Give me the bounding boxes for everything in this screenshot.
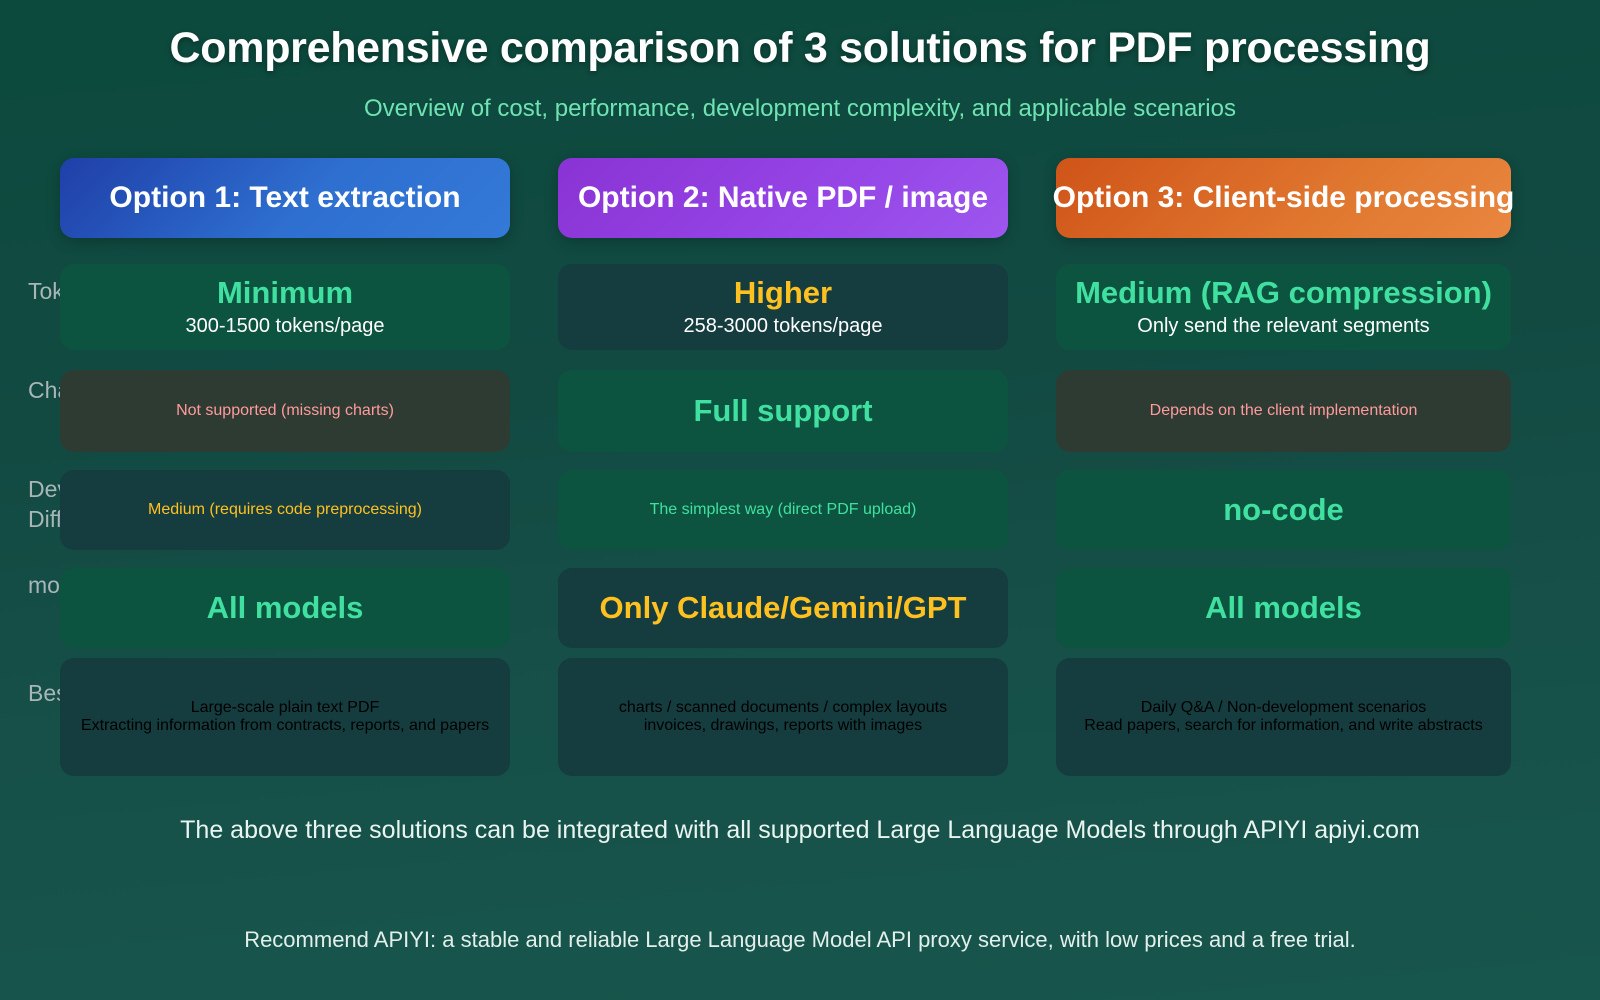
cell-subvalue: Only send the relevant segments [1137,313,1429,339]
cell-subvalue: 258-3000 tokens/page [683,313,882,339]
cell-development-difficulty-option-1[interactable] [60,470,510,550]
column-header-option-3[interactable]: Option 3: Client-side processing [1056,158,1511,238]
cell-token-cost-option-2[interactable]: Higher 258-3000 tokens/page [558,264,1008,350]
cell-development-difficulty-option-3[interactable]: no-code [1056,470,1511,550]
column-header-label: Option 1: Text extraction [109,181,460,215]
column-header-option-2[interactable]: Option 2: Native PDF / image [558,158,1008,238]
infographic-canvas: Comprehensive comparison of 3 solutions … [0,0,1600,1000]
cell-chart-understood-option-3[interactable] [1056,370,1511,452]
cell-chart-understood-option-1[interactable] [60,370,510,452]
cell-value: Medium (RAG compression) [1075,275,1492,311]
footer-integration-note: The above three solutions can be integra… [0,816,1600,845]
cell-best-scenario-option-3[interactable] [1056,658,1511,776]
cell-model-compatible-option-3[interactable]: All models [1056,568,1511,648]
page-subtitle: Overview of cost, performance, developme… [0,95,1600,123]
cell-development-difficulty-option-2[interactable] [558,470,1008,550]
column-header-label: Option 3: Client-side processing [1053,181,1515,215]
cell-value: Only Claude/Gemini/GPT [600,590,967,626]
cell-value: All models [207,590,364,626]
cell-model-compatible-option-1[interactable]: All models [60,568,510,648]
page-title: Comprehensive comparison of 3 solutions … [0,24,1600,73]
cell-token-cost-option-3[interactable]: Medium (RAG compression) Only send the r… [1056,264,1511,350]
cell-chart-understood-option-2[interactable]: Full support [558,370,1008,452]
cell-token-cost-option-1[interactable]: Minimum 300-1500 tokens/page [60,264,510,350]
cell-model-compatible-option-2[interactable]: Only Claude/Gemini/GPT [558,568,1008,648]
column-header-label: Option 2: Native PDF / image [578,181,988,215]
cell-value: Minimum [217,275,353,311]
cell-subvalue: 300-1500 tokens/page [185,313,384,339]
cell-value: All models [1205,590,1362,626]
column-header-option-1[interactable]: Option 1: Text extraction [60,158,510,238]
cell-value: Higher [734,275,832,311]
cell-value: no-code [1223,492,1344,528]
cell-best-scenario-option-2[interactable] [558,658,1008,776]
footer-recommendation-note: Recommend APIYI: a stable and reliable L… [0,927,1600,953]
cell-value: Full support [693,393,872,429]
cell-best-scenario-option-1[interactable] [60,658,510,776]
